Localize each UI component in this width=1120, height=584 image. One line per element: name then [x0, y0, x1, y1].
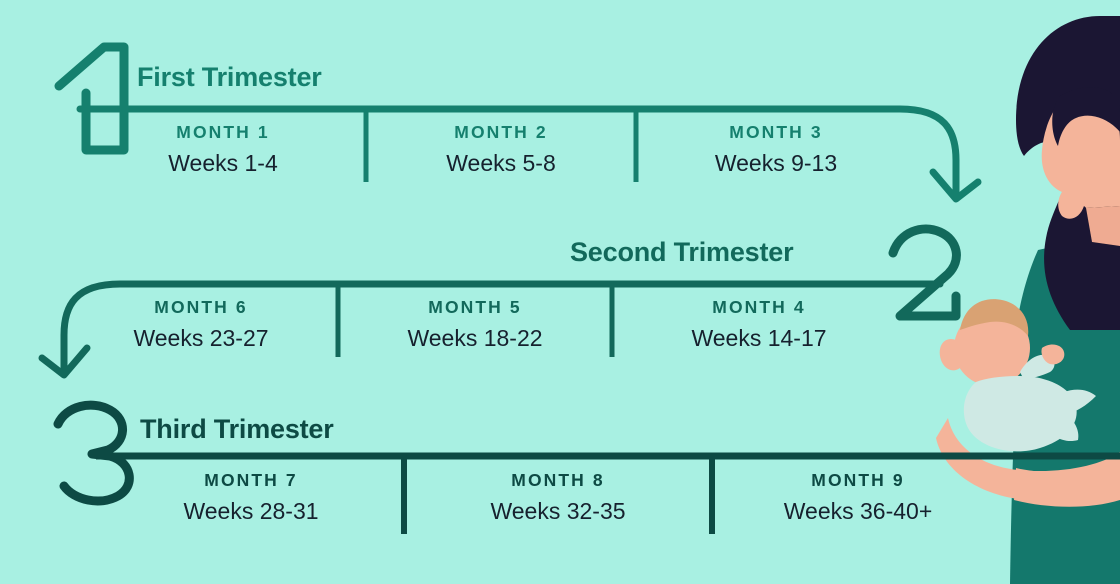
week-label-9: Weeks 36-40+ — [784, 498, 933, 525]
month-label-3: MONTH 3 — [729, 122, 822, 143]
week-label-1: Weeks 1-4 — [168, 150, 278, 177]
month-cell-7: MONTH 7 Weeks 28-31 — [98, 470, 404, 525]
month-label-2: MONTH 2 — [454, 122, 547, 143]
week-label-3: Weeks 9-13 — [715, 150, 837, 177]
month-label-5: MONTH 5 — [428, 297, 521, 318]
month-cell-1: MONTH 1 Weeks 1-4 — [80, 122, 366, 177]
month-row-first: MONTH 1 Weeks 1-4 MONTH 2 Weeks 5-8 MONT… — [80, 122, 916, 177]
month-cell-3: MONTH 3 Weeks 9-13 — [636, 122, 916, 177]
week-label-4: Weeks 14-17 — [691, 325, 826, 352]
month-row-third: MONTH 7 Weeks 28-31 MONTH 8 Weeks 32-35 … — [98, 470, 1004, 525]
month-label-9: MONTH 9 — [811, 470, 904, 491]
trimester-heading-first: First Trimester — [137, 62, 322, 93]
trimester-heading-third: Third Trimester — [140, 414, 334, 445]
trimester-heading-second: Second Trimester — [570, 237, 793, 268]
week-label-8: Weeks 32-35 — [490, 498, 625, 525]
month-label-6: MONTH 6 — [154, 297, 247, 318]
month-label-4: MONTH 4 — [712, 297, 805, 318]
month-cell-2: MONTH 2 Weeks 5-8 — [366, 122, 636, 177]
week-label-2: Weeks 5-8 — [446, 150, 556, 177]
week-label-7: Weeks 28-31 — [183, 498, 318, 525]
month-cell-6: MONTH 6 Weeks 23-27 — [64, 297, 338, 352]
week-label-5: Weeks 18-22 — [407, 325, 542, 352]
month-cell-8: MONTH 8 Weeks 32-35 — [404, 470, 712, 525]
month-cell-4: MONTH 4 Weeks 14-17 — [612, 297, 906, 352]
week-label-6: Weeks 23-27 — [133, 325, 268, 352]
month-label-7: MONTH 7 — [204, 470, 297, 491]
pregnancy-trimester-infographic: First Trimester MONTH 1 Weeks 1-4 MONTH … — [0, 0, 1120, 584]
month-label-1: MONTH 1 — [176, 122, 269, 143]
month-row-second: MONTH 6 Weeks 23-27 MONTH 5 Weeks 18-22 … — [64, 297, 906, 352]
month-label-8: MONTH 8 — [511, 470, 604, 491]
month-cell-5: MONTH 5 Weeks 18-22 — [338, 297, 612, 352]
month-cell-9: MONTH 9 Weeks 36-40+ — [712, 470, 1004, 525]
